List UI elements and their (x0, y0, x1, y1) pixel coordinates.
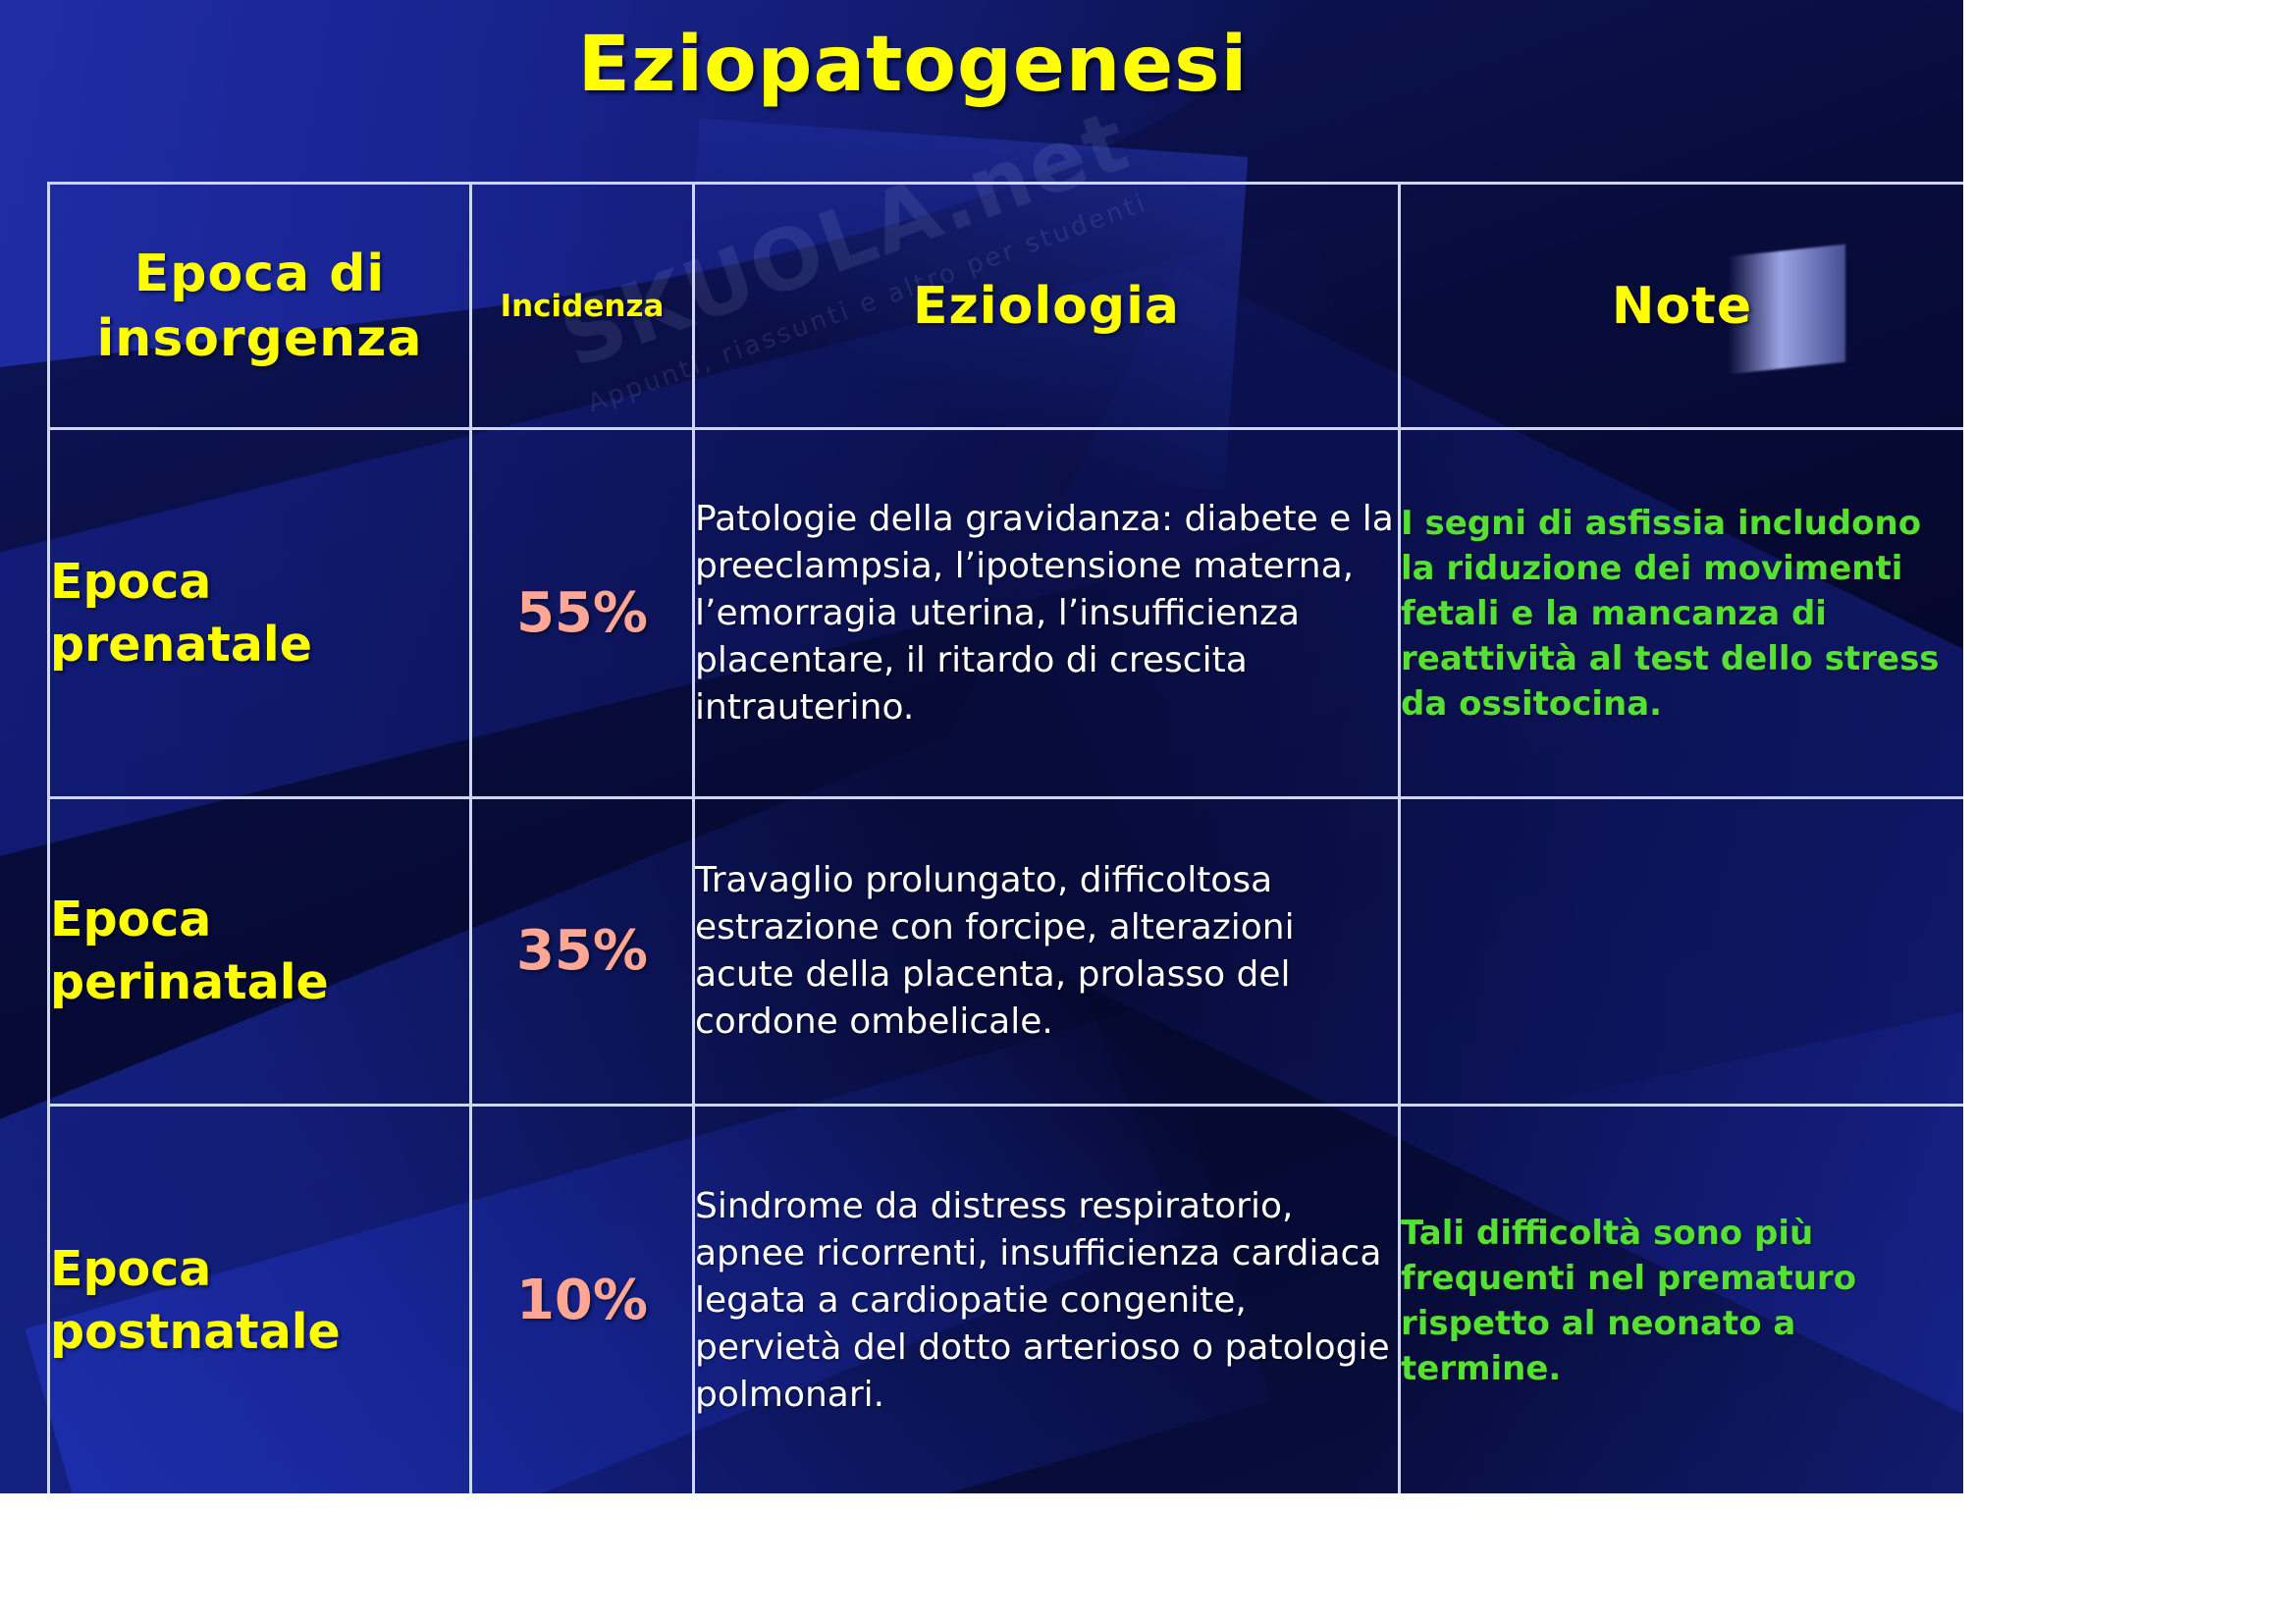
cell-epoca-perinatale: Epoca perinatale (49, 798, 471, 1106)
cell-note-prenatale: I segni di asfissia includono la riduzio… (1400, 429, 1964, 798)
cell-eziologia-perinatale: Travaglio prolungato, difficoltosa estra… (694, 798, 1400, 1106)
cell-epoca-postnatale: Epoca postnatale (49, 1106, 471, 1494)
column-header-eziologia: Eziologia (694, 184, 1400, 429)
cell-incidenza-perinatale: 35% (471, 798, 694, 1106)
cell-eziologia-postnatale: Sindrome da distress respiratorio, apnee… (694, 1106, 1400, 1494)
cell-epoca-prenatale: Epoca prenatale (49, 429, 471, 798)
column-header-note: Note (1400, 184, 1964, 429)
cell-incidenza-postnatale: 10% (471, 1106, 694, 1494)
slide-title: Eziopatogenesi (0, 20, 1826, 110)
table-row: Epoca prenatale 55% Patologie della grav… (49, 429, 1964, 798)
cell-eziologia-prenatale: Patologie della gravidanza: diabete e la… (694, 429, 1400, 798)
column-header-incidenza: Incidenza (471, 184, 694, 429)
presentation-slide: SKUOLA.net Appunti, riassunti e altro pe… (0, 0, 1963, 1493)
table-header-row: Epoca di insorgenza Incidenza Eziologia … (49, 184, 1964, 429)
cell-note-perinatale (1400, 798, 1964, 1106)
table-row: Epoca perinatale 35% Travaglio prolungat… (49, 798, 1964, 1106)
cell-note-postnatale: Tali difficoltà sono più frequenti nel p… (1400, 1106, 1964, 1494)
table-row: Epoca postnatale 10% Sindrome da distres… (49, 1106, 1964, 1494)
etiopathogenesis-table: Epoca di insorgenza Incidenza Eziologia … (47, 182, 1963, 1493)
cell-incidenza-prenatale: 55% (471, 429, 694, 798)
column-header-epoca: Epoca di insorgenza (49, 184, 471, 429)
